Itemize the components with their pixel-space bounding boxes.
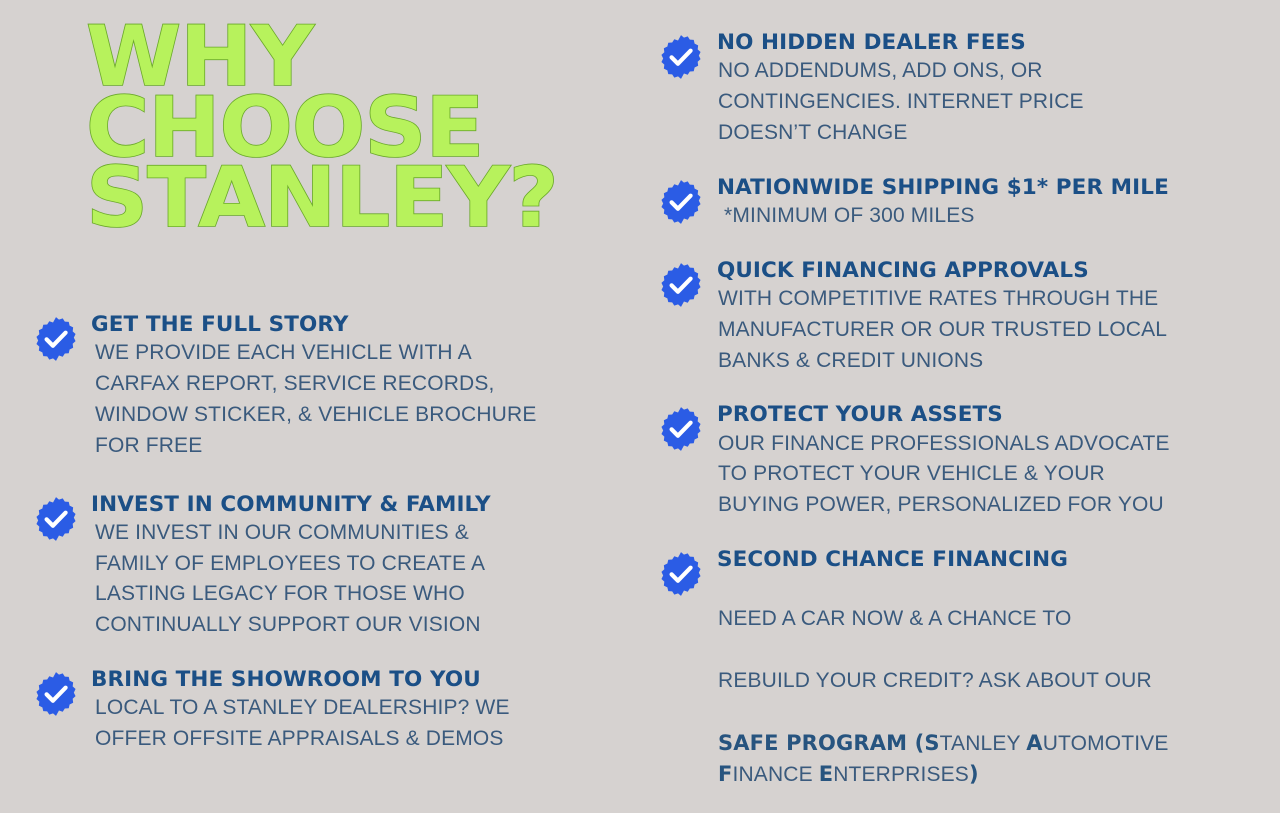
list-item-body: BRING THE SHOWROOM TO YOU LOCAL TO A STA… (89, 667, 640, 755)
list-item: GET THE FULL STORY WE PROVIDE EACH VEHIC… (0, 312, 640, 462)
list-item-body: GET THE FULL STORY WE PROVIDE EACH VEHIC… (89, 312, 640, 462)
list-item-title: NO HIDDEN DEALER FEES (714, 30, 1280, 55)
check-badge-icon (658, 551, 704, 597)
left-feature-list: GET THE FULL STORY WE PROVIDE EACH VEHIC… (0, 312, 640, 777)
check-badge-icon (658, 262, 704, 308)
list-item-body: NO HIDDEN DEALER FEES NO ADDENDUMS, ADD … (714, 30, 1280, 149)
right-column: NO HIDDEN DEALER FEES NO ADDENDUMS, ADD … (640, 0, 1280, 800)
list-item-description: NEED A CAR NOW & A CHANCE TO REBUILD YOU… (714, 573, 1280, 791)
safe-acronym-bold-5: ) (969, 762, 979, 786)
safe-acronym-bold-2: A (1026, 731, 1042, 755)
desc-line-2: REBUILD YOUR CREDIT? ASK ABOUT OUR (718, 669, 1152, 692)
list-item-body: INVEST IN COMMUNITY & FAMILY WE INVEST I… (89, 492, 640, 642)
list-item-title: BRING THE SHOWROOM TO YOU (89, 667, 640, 692)
list-item-description: OUR FINANCE PROFESSIONALS ADVOCATE TO PR… (714, 429, 1280, 522)
list-item-title: PROTECT YOUR ASSETS (714, 402, 1280, 427)
list-item: QUICK FINANCING APPROVALS WITH COMPETITI… (640, 258, 1280, 377)
list-item-title: NATIONWIDE SHIPPING $1* PER MILE (714, 175, 1280, 200)
list-item: NO HIDDEN DEALER FEES NO ADDENDUMS, ADD … (640, 30, 1280, 149)
check-badge-icon (33, 496, 79, 542)
left-column: WHY CHOOSE STANLEY? GET THE FULL STORY W… (0, 0, 640, 800)
list-item: PROTECT YOUR ASSETS OUR FINANCE PROFESSI… (640, 402, 1280, 521)
check-badge-icon (33, 671, 79, 717)
safe-acronym-plain-2: UTOMOTIVE (1043, 732, 1169, 755)
check-badge-icon (658, 406, 704, 452)
list-item: NATIONWIDE SHIPPING $1* PER MILE *MINIMU… (640, 175, 1280, 232)
list-item-title: SECOND CHANCE FINANCING (714, 547, 1280, 572)
list-item-body: QUICK FINANCING APPROVALS WITH COMPETITI… (714, 258, 1280, 377)
list-item-description: WITH COMPETITIVE RATES THROUGH THE MANUF… (714, 284, 1280, 377)
safe-acronym-plain-3: INANCE (733, 763, 819, 786)
safe-acronym-bold-3: F (718, 762, 733, 786)
check-badge-icon (658, 34, 704, 80)
safe-acronym-plain-4: NTERPRISES (833, 763, 969, 786)
list-item-title: GET THE FULL STORY (89, 312, 640, 337)
infographic-page: WHY CHOOSE STANLEY? GET THE FULL STORY W… (0, 0, 1280, 800)
safe-acronym-plain-1: TANLEY (940, 732, 1027, 755)
list-item-title: INVEST IN COMMUNITY & FAMILY (89, 492, 640, 517)
list-item-title: QUICK FINANCING APPROVALS (714, 258, 1280, 283)
check-badge-icon (33, 316, 79, 362)
safe-acronym-bold-1: SAFE PROGRAM (S (718, 731, 940, 755)
list-item-description: WE PROVIDE EACH VEHICLE WITH A CARFAX RE… (89, 338, 640, 461)
list-item: INVEST IN COMMUNITY & FAMILY WE INVEST I… (0, 492, 640, 642)
right-feature-list: NO HIDDEN DEALER FEES NO ADDENDUMS, ADD … (640, 30, 1280, 813)
list-item-body: NATIONWIDE SHIPPING $1* PER MILE *MINIMU… (714, 175, 1280, 232)
list-item-subnote: *MINIMUM OF 300 MILES (714, 201, 1280, 232)
list-item-body: PROTECT YOUR ASSETS OUR FINANCE PROFESSI… (714, 402, 1280, 521)
list-item-description: NO ADDENDUMS, ADD ONS, OR CONTINGENCIES.… (714, 56, 1280, 149)
list-item-description: WE INVEST IN OUR COMMUNITIES & FAMILY OF… (89, 518, 640, 641)
check-badge-icon (658, 179, 704, 225)
desc-line-1: NEED A CAR NOW & A CHANCE TO (718, 607, 1072, 630)
list-item-description: LOCAL TO A STANLEY DEALERSHIP? WE OFFER … (89, 693, 640, 755)
list-item: BRING THE SHOWROOM TO YOU LOCAL TO A STA… (0, 667, 640, 755)
list-item: SECOND CHANCE FINANCING NEED A CAR NOW &… (640, 547, 1280, 791)
page-title: WHY CHOOSE STANLEY? (86, 22, 627, 234)
safe-acronym-bold-4: E (819, 762, 834, 786)
list-item-body: SECOND CHANCE FINANCING NEED A CAR NOW &… (714, 547, 1280, 791)
